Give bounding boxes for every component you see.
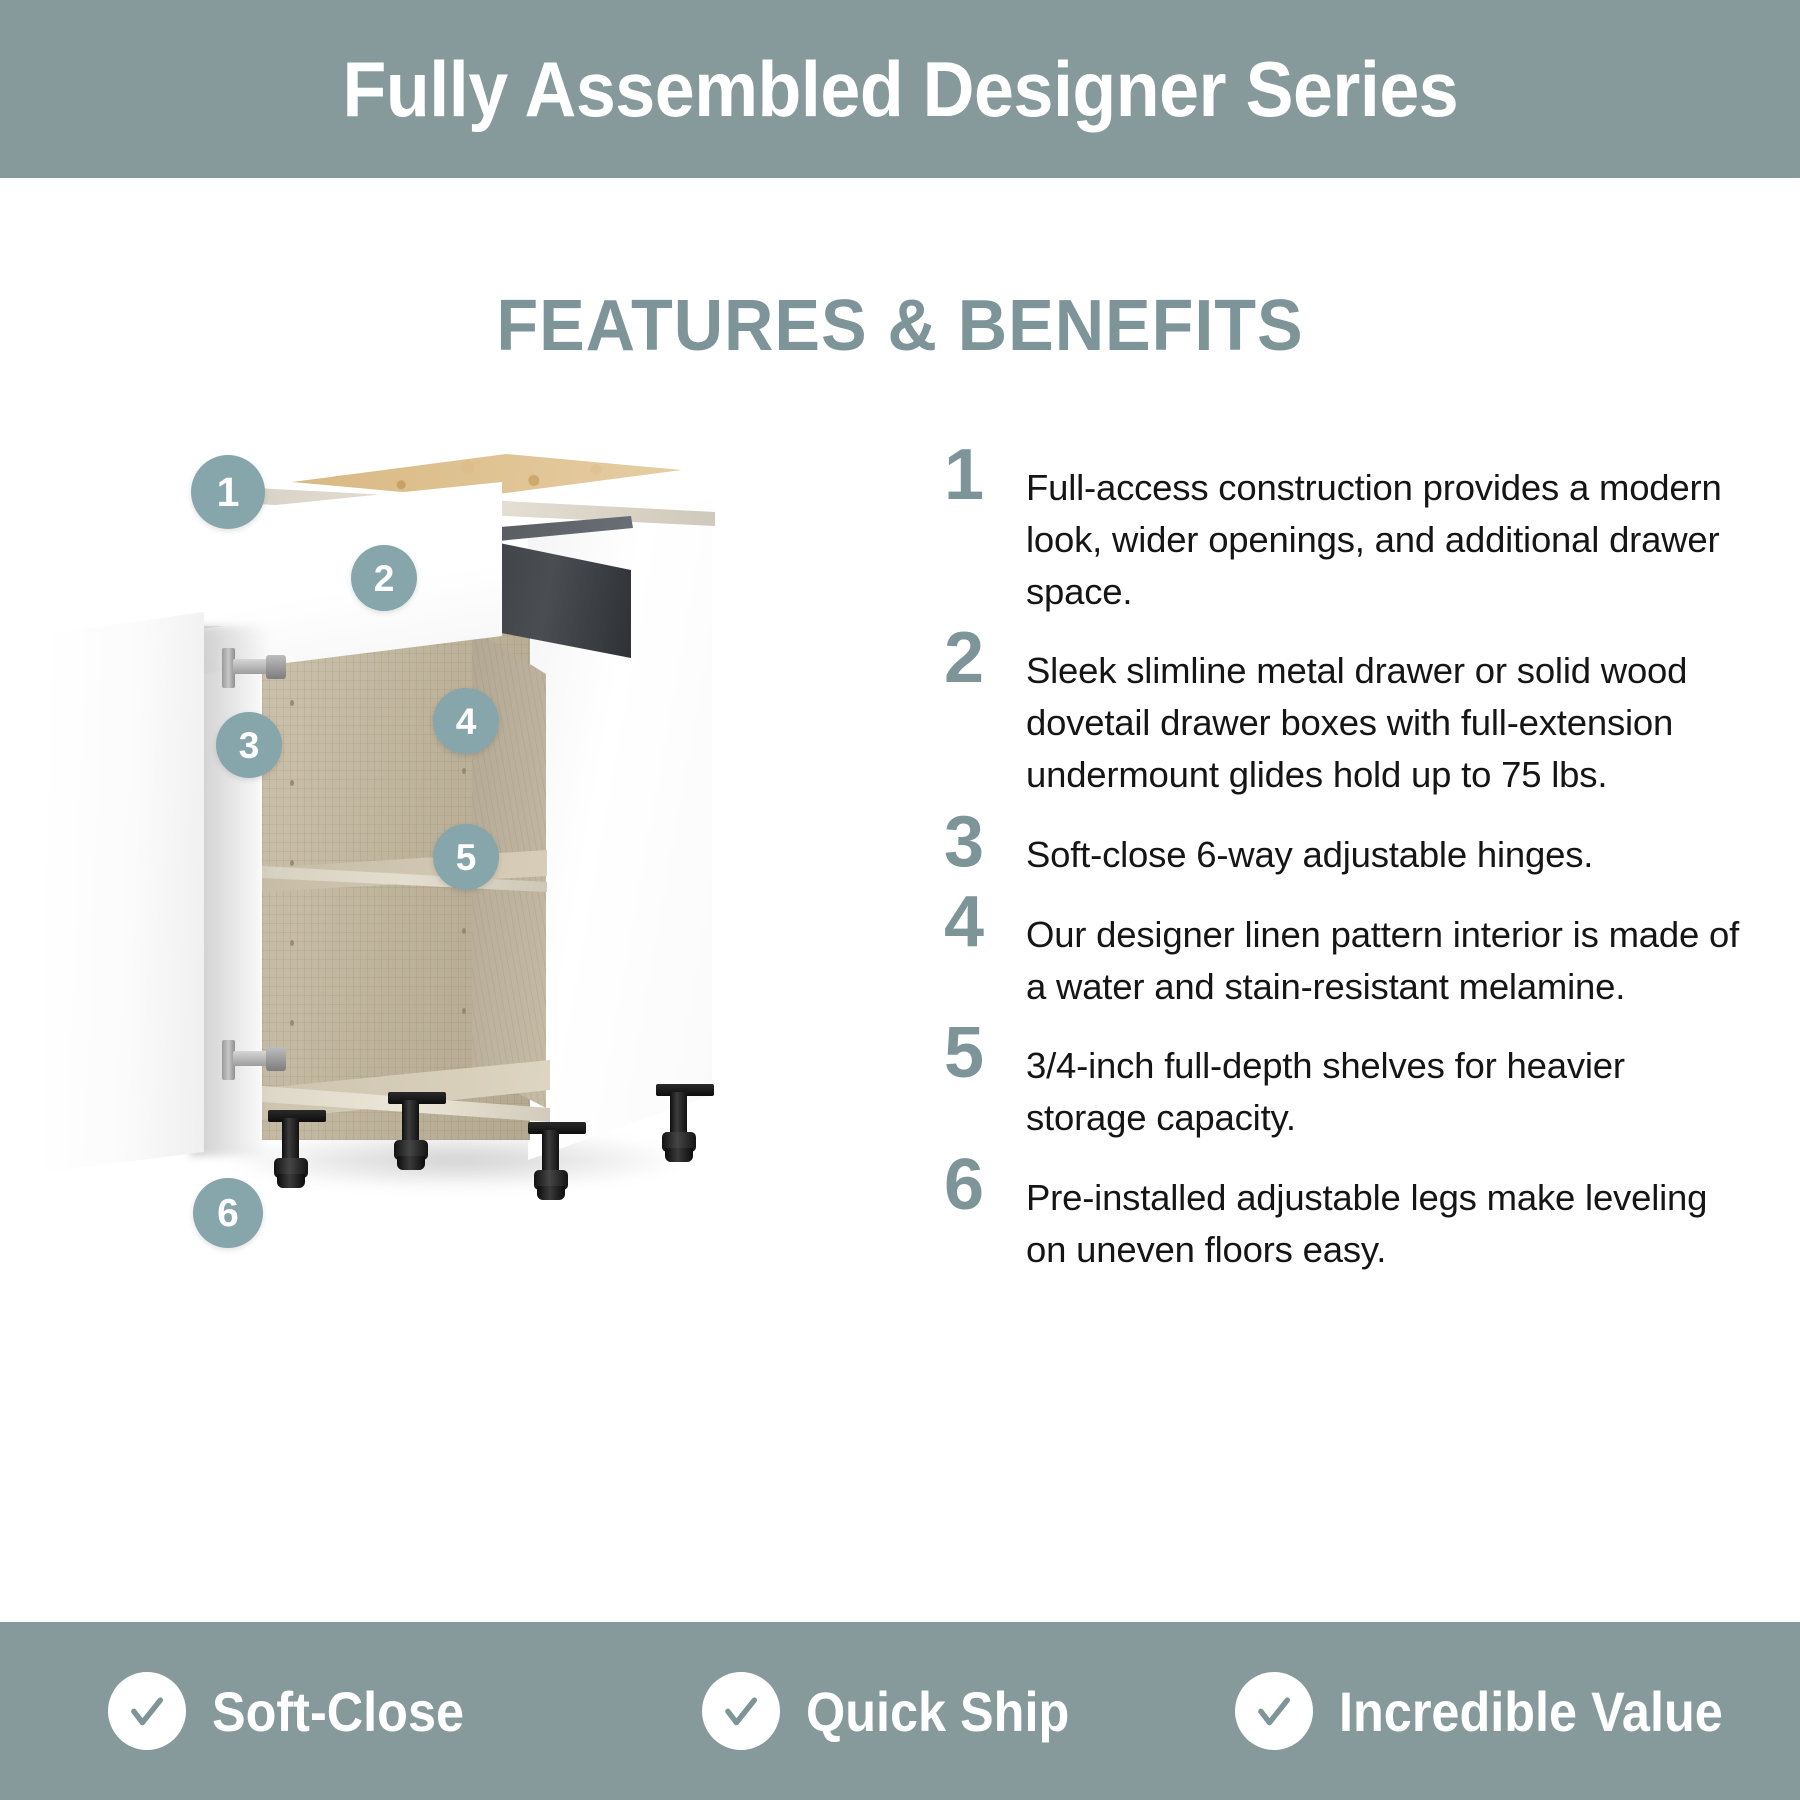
page-footer: Soft-Close Quick Ship Incredible Value — [0, 1622, 1800, 1800]
soft-close-hinge-icon — [222, 1038, 288, 1082]
callout-badge-3: 3 — [216, 712, 282, 778]
footer-badge-soft-close: Soft-Close — [0, 1672, 600, 1750]
page-title: Fully Assembled Designer Series — [342, 44, 1458, 135]
feature-description: Sleek slimline metal drawer or solid woo… — [1026, 623, 1740, 800]
check-circle-icon — [1235, 1672, 1313, 1750]
cabinet-door-panel — [46, 612, 204, 1172]
content-body: 1 Full-access construction provides a mo… — [0, 420, 1800, 1600]
footer-label: Soft-Close — [212, 1679, 464, 1744]
soft-close-hinge-icon — [222, 646, 288, 690]
feature-number: 5 — [940, 1018, 1026, 1089]
footer-badge-quick-ship: Quick Ship — [600, 1672, 1200, 1750]
feature-description: Soft-close 6-way adjustable hinges. — [1026, 807, 1740, 881]
feature-item: 4 Our designer linen pattern interior is… — [940, 887, 1740, 1013]
feature-number: 2 — [940, 623, 1026, 694]
feature-number: 3 — [940, 807, 1026, 878]
feature-item: 3 Soft-close 6-way adjustable hinges. — [940, 807, 1740, 881]
feature-description: 3/4-inch full-depth shelves for heavier … — [1026, 1018, 1740, 1144]
feature-description: Our designer linen pattern interior is m… — [1026, 887, 1740, 1013]
footer-label: Quick Ship — [806, 1679, 1069, 1744]
feature-number: 1 — [940, 440, 1026, 511]
callout-badge-5: 5 — [433, 824, 499, 890]
page-header: Fully Assembled Designer Series — [0, 0, 1800, 178]
product-illustration — [40, 430, 800, 1330]
feature-item: 6 Pre-installed adjustable legs make lev… — [940, 1150, 1740, 1276]
feature-number: 6 — [940, 1150, 1026, 1221]
footer-label: Incredible Value — [1339, 1679, 1723, 1744]
footer-badge-incredible-value: Incredible Value — [1200, 1672, 1800, 1750]
feature-number: 4 — [940, 887, 1026, 958]
callout-badge-6: 6 — [193, 1178, 263, 1248]
section-heading: FEATURES & BENEFITS — [45, 285, 1755, 367]
callout-badge-4: 4 — [433, 688, 499, 754]
check-circle-icon — [108, 1672, 186, 1750]
check-circle-icon — [702, 1672, 780, 1750]
features-list: 1 Full-access construction provides a mo… — [940, 440, 1740, 1282]
feature-description: Pre-installed adjustable legs make level… — [1026, 1150, 1740, 1276]
callout-badge-1: 1 — [191, 455, 265, 529]
feature-item: 1 Full-access construction provides a mo… — [940, 440, 1740, 617]
feature-item: 2 Sleek slimline metal drawer or solid w… — [940, 623, 1740, 800]
callout-badge-2: 2 — [351, 545, 417, 611]
feature-item: 5 3/4-inch full-depth shelves for heavie… — [940, 1018, 1740, 1144]
feature-description: Full-access construction provides a mode… — [1026, 440, 1740, 617]
